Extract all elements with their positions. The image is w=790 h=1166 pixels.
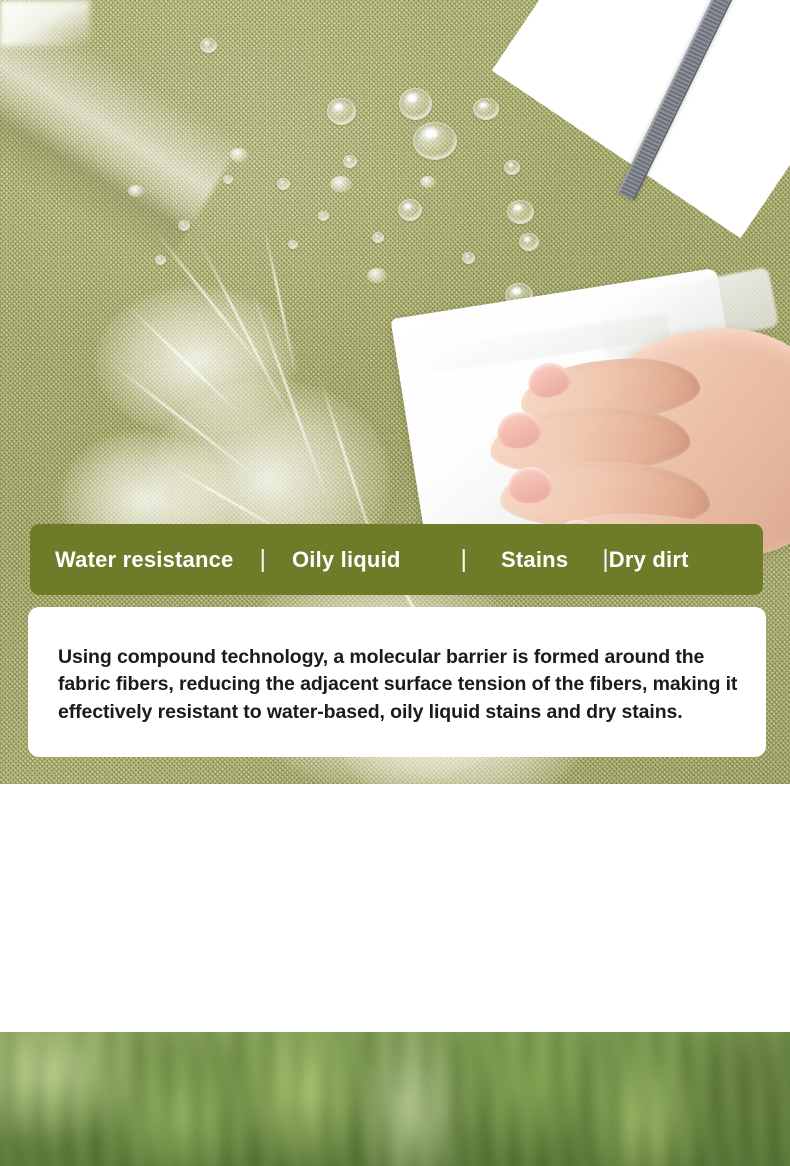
feature-label-dry-dirt: Dry dirt [609, 547, 689, 573]
feature-label-oily-liquid: Oily liquid [292, 547, 401, 573]
water-spray-speck [420, 176, 436, 188]
water-droplet [519, 233, 539, 251]
water-droplet [504, 160, 520, 175]
foliage-branch-streaks [0, 1032, 790, 1166]
water-droplet [178, 220, 190, 231]
water-droplet [372, 232, 384, 243]
feature-banner: Water resistance | Oily liquid | Stains … [30, 524, 763, 595]
washable-section: The whole nest can be disassembled and w… [0, 784, 790, 1032]
water-droplet [318, 211, 329, 221]
water-spray-speck [128, 185, 144, 197]
water-droplet [288, 240, 298, 249]
water-droplet [462, 252, 475, 264]
feature-label-water-resistance: Water resistance [55, 547, 233, 573]
water-droplet [413, 122, 457, 160]
water-droplet [155, 255, 166, 265]
water-droplet [223, 175, 233, 184]
water-droplet [473, 98, 499, 120]
description-text: Using compound technology, a molecular b… [58, 644, 744, 728]
product-detail-page: Water resistance | Oily liquid | Stains … [0, 0, 790, 1166]
banner-divider: | [602, 545, 609, 574]
water-spray-speck [367, 268, 387, 283]
water-droplet [200, 38, 217, 53]
water-spray-speck [230, 148, 248, 162]
water-droplet [399, 88, 432, 120]
banner-divider: | [259, 545, 266, 574]
water-spray-speck [330, 176, 352, 192]
banner-divider: | [461, 545, 468, 574]
feature-label-stains: Stains [501, 547, 568, 573]
description-card: Using compound technology, a molecular b… [28, 607, 766, 757]
water-droplet [398, 199, 422, 221]
foliage-photo [0, 1032, 790, 1166]
water-droplet [277, 178, 290, 190]
water-droplet [507, 200, 534, 224]
water-droplet [343, 155, 357, 168]
water-droplet [327, 98, 356, 125]
